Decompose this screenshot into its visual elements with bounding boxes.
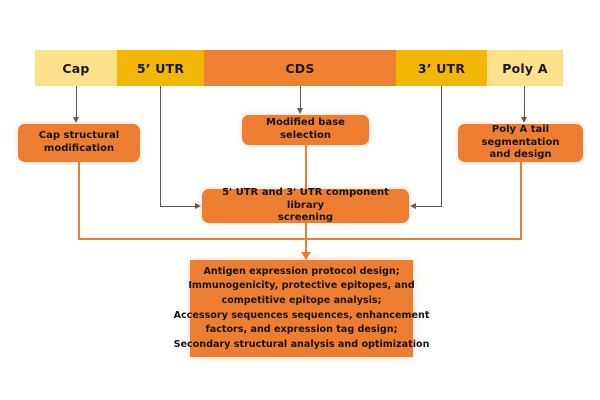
process-box-utr-component-library-screening[interactable]: 5' UTR and 3' UTR component library scre… <box>202 189 409 223</box>
process-box-utr-line1: 5' UTR and 3' UTR component library <box>208 187 403 213</box>
process-box-cap-line2: modification <box>39 143 119 156</box>
arrowhead-polya-down-icon <box>521 117 527 123</box>
bar-segment-cds-label: CDS <box>285 61 314 76</box>
process-box-polya-line1: Poly A tail segmentation <box>464 124 577 150</box>
bar-segment-3utr[interactable]: 3’ UTR <box>396 50 487 86</box>
summary-line-3: competitive epitope analysis; <box>222 294 382 309</box>
summary-line-2: Immunogenicity, protective epitopes, and <box>188 279 414 294</box>
arrowhead-5utr-right-icon <box>195 203 201 209</box>
connector-polya-vertical <box>524 86 525 118</box>
arrowhead-cds-down-icon <box>297 108 303 114</box>
diagram-canvas: Cap 5’ UTR CDS 3’ UTR Poly A Cap structu… <box>0 0 600 400</box>
process-box-modified-base-label: Modified base selection <box>248 117 363 143</box>
connector-cds-vertical <box>300 86 301 109</box>
bar-segment-cds[interactable]: CDS <box>204 50 396 86</box>
summary-line-5: factors, and expression tag design; <box>206 323 398 338</box>
bar-segment-cap[interactable]: Cap <box>35 50 117 86</box>
process-box-polya-line2: and design <box>464 149 577 162</box>
bar-segment-5utr[interactable]: 5’ UTR <box>117 50 204 86</box>
bar-segment-5utr-label: 5’ UTR <box>137 61 184 76</box>
bus-connector-cap-vertical <box>78 162 80 240</box>
arrowhead-summary-down-icon <box>301 252 311 260</box>
process-box-cap-line1: Cap structural <box>39 130 119 143</box>
connector-cap-vertical <box>76 86 77 118</box>
connector-5utr-horizontal <box>160 206 196 207</box>
arrowhead-3utr-left-icon <box>410 203 416 209</box>
summary-line-6: Secondary structural analysis and optimi… <box>174 338 430 353</box>
bus-connector-modified-base-vertical <box>305 145 307 189</box>
connector-3utr-horizontal <box>416 206 442 207</box>
bar-segment-cap-label: Cap <box>62 61 89 76</box>
arrowhead-cap-down-icon <box>73 117 79 123</box>
bus-connector-polya-vertical <box>520 162 522 240</box>
summary-box-antigen-expression[interactable]: Antigen expression protocol design; Immu… <box>190 260 413 357</box>
bar-segment-3utr-label: 3’ UTR <box>418 61 465 76</box>
summary-line-4: Accessory sequences sequences, enhanceme… <box>174 309 430 324</box>
bus-horizontal-line <box>78 238 522 240</box>
process-box-modified-base-selection[interactable]: Modified base selection <box>242 115 369 145</box>
bar-segment-polya[interactable]: Poly A <box>487 50 563 86</box>
bar-segment-polya-label: Poly A <box>502 61 547 76</box>
process-box-polya-tail-segmentation[interactable]: Poly A tail segmentation and design <box>458 124 583 162</box>
summary-line-1: Antigen expression protocol design; <box>203 265 399 280</box>
process-box-cap-structural-modification[interactable]: Cap structural modification <box>18 124 140 162</box>
connector-3utr-vertical <box>441 86 442 207</box>
connector-5utr-vertical <box>160 86 161 207</box>
